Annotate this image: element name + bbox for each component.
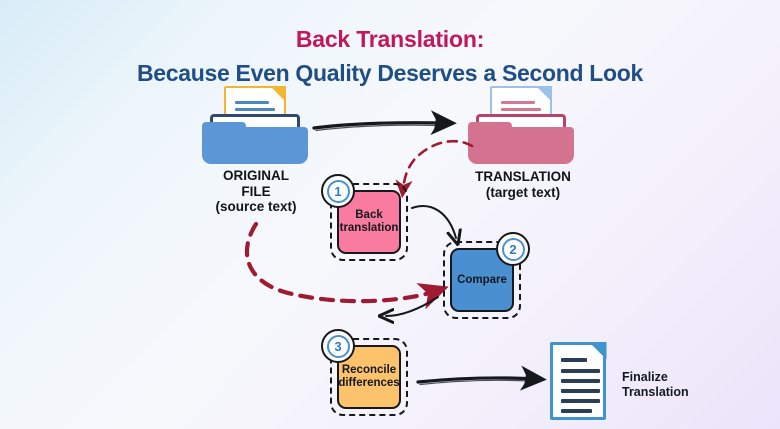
step-1-number: 1 <box>327 180 350 203</box>
connector-compare-to-reconcile <box>386 297 438 316</box>
finalize-caption-line2: Translation <box>622 385 732 400</box>
folder-front-icon <box>202 127 308 164</box>
step-1-label-line1: Back <box>355 209 383 221</box>
folder-front-icon <box>468 127 574 164</box>
step-2-label-line1: Compare <box>457 274 507 287</box>
step-2-number: 2 <box>502 238 525 261</box>
original-file-caption-line1: ORIGINAL <box>176 168 336 184</box>
translation-caption-line1: TRANSLATION <box>443 169 603 185</box>
step-3-label-line2: differences <box>338 377 399 389</box>
connector-back-translation-to-compare <box>412 206 456 238</box>
step-3-number: 3 <box>327 335 350 358</box>
page-title-main: Back Translation: <box>0 26 780 53</box>
step-3-number-badge: 3 <box>321 329 355 363</box>
step-compare[interactable]: Compare 2 <box>443 241 521 319</box>
page-fold-icon <box>589 342 607 360</box>
step-3-label-line1: Reconcile <box>342 364 396 376</box>
original-file-caption-line3: (source text) <box>176 199 336 215</box>
finalize-caption-line1: Finalize <box>622 370 732 385</box>
step-back-translation[interactable]: Back translation 1 <box>330 183 408 261</box>
step-1-label-line2: translation <box>340 222 399 234</box>
translation-file-icon <box>462 86 582 164</box>
connector-original-to-translation <box>314 118 452 131</box>
original-file-caption-line2: FILE <box>176 184 336 200</box>
original-file-caption: ORIGINAL FILE (source text) <box>176 168 336 215</box>
step-reconcile-differences[interactable]: Reconcile differences 3 <box>330 338 408 416</box>
finalize-translation-caption: Finalize Translation <box>622 370 732 400</box>
page-fold-icon <box>536 86 552 102</box>
original-file-icon <box>196 86 316 164</box>
page-title-subtitle: Because Even Quality Deserves a Second L… <box>0 60 780 87</box>
finalize-document-icon <box>550 342 606 420</box>
translation-file-caption: TRANSLATION (target text) <box>443 169 603 200</box>
diagram-canvas: Back Translation: Because Even Quality D… <box>0 0 780 429</box>
document-sheet-icon <box>550 342 606 420</box>
step-1-number-badge: 1 <box>321 174 355 208</box>
page-fold-icon <box>270 86 286 102</box>
connector-reconcile-to-finalize <box>418 374 542 386</box>
step-2-number-badge: 2 <box>496 232 530 266</box>
translation-caption-line2: (target text) <box>443 185 603 201</box>
